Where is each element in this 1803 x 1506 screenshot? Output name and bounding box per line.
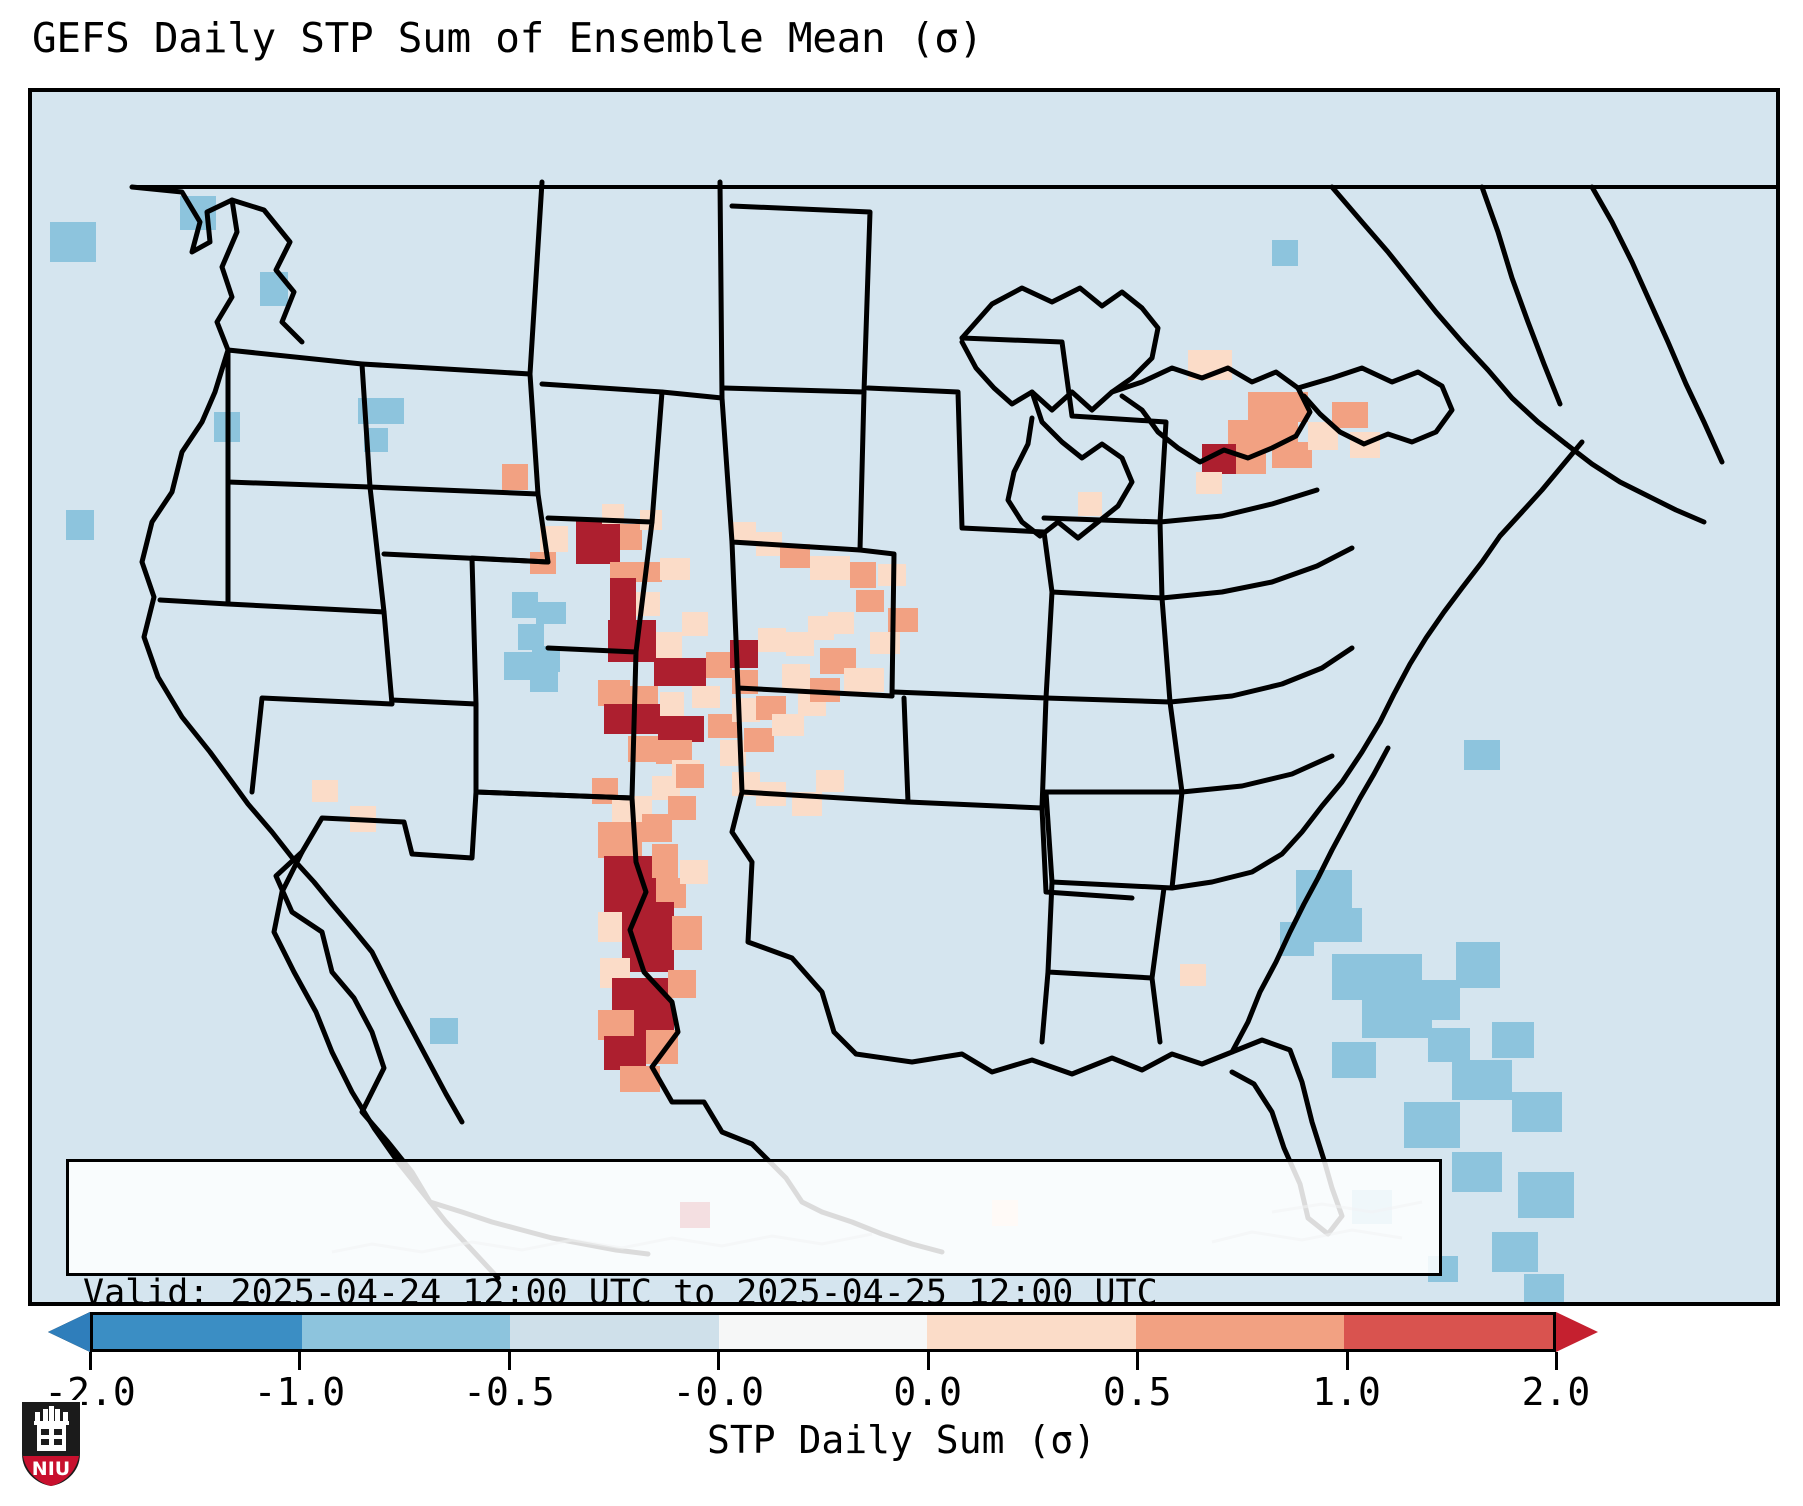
colorbar-tick: [89, 1352, 92, 1370]
heatmap-cell: [744, 728, 774, 752]
colorbar-tick: [298, 1352, 301, 1370]
heatmap-cell: [504, 652, 534, 680]
colorbar-segment-0: [93, 1315, 302, 1349]
colorbar-tick: [1555, 1352, 1558, 1370]
colorbar-tick-label: 0.5: [1103, 1370, 1172, 1414]
heatmap-cell: [652, 844, 678, 878]
heatmap-cell: [642, 814, 672, 842]
colorbar-ticks: [28, 1352, 1780, 1370]
heatmap-cell: [1464, 740, 1500, 770]
heatmap-cell: [430, 1018, 458, 1044]
colorbar-segment-4: [927, 1315, 1136, 1349]
heatmap-cell: [598, 912, 626, 942]
heatmap-cell: [1362, 998, 1432, 1038]
heatmap-cell: [1078, 492, 1102, 516]
colorbar-tick: [717, 1352, 720, 1370]
colorbar-axis-label: STP Daily Sum (σ): [0, 1418, 1803, 1462]
colorbar-tick: [927, 1352, 930, 1370]
heatmap-cell: [1332, 954, 1422, 1000]
heatmap-cell: [654, 658, 706, 686]
colorbar-tick-label: 1.0: [1312, 1370, 1381, 1414]
niu-logo-text: NIU: [32, 1458, 70, 1480]
heatmap-cell: [680, 860, 708, 884]
valid-time-line: Valid: 2025-04-24 12:00 UTC to 2025-04-2…: [83, 1269, 1425, 1306]
heatmap-cell: [1196, 472, 1222, 494]
heatmap-cell: [1314, 908, 1362, 942]
colorbar-extend-high-arrow: [1556, 1312, 1598, 1352]
heatmap-cell: [1248, 392, 1308, 422]
colorbar-segment-1: [302, 1315, 511, 1349]
map-panel: Valid: 2025-04-24 12:00 UTC to 2025-04-2…: [28, 88, 1780, 1306]
heatmap-cell: [536, 602, 566, 624]
heatmap-cell: [682, 612, 708, 636]
heatmap-cell: [668, 970, 696, 998]
heatmap-cell: [660, 692, 684, 718]
heatmap-cell: [772, 714, 804, 736]
heatmap-cell: [816, 770, 844, 792]
heatmap-cell: [598, 680, 630, 706]
heatmap-cell: [850, 562, 876, 588]
heatmap-cell: [1180, 964, 1206, 986]
heatmap-cell: [844, 668, 884, 692]
heatmap-cell: [1332, 1042, 1376, 1078]
heatmap-cell: [604, 1036, 646, 1070]
heatmap-cell: [610, 578, 636, 620]
colorbar-tick-label: -1.0: [254, 1370, 346, 1414]
heatmap-cell: [828, 612, 854, 634]
heatmap-cell: [758, 628, 786, 652]
heatmap-cell: [598, 1010, 634, 1040]
colorbar-segment-6: [1344, 1315, 1553, 1349]
heatmap-cell: [50, 222, 96, 262]
heatmap-cell: [1492, 1232, 1538, 1272]
heatmap-cell: [608, 620, 656, 662]
colorbar-segment-2: [510, 1315, 719, 1349]
colorbar-tick: [508, 1352, 511, 1370]
heatmap-cell: [856, 590, 884, 612]
heatmap-cell: [810, 556, 850, 580]
heatmap-cell: [1428, 1028, 1470, 1062]
colorbar-tick-label: 0.0: [893, 1370, 962, 1414]
page-title: GEFS Daily STP Sum of Ensemble Mean (σ): [32, 18, 983, 59]
map-canvas: [32, 92, 1776, 1302]
heatmap-cell: [1456, 942, 1500, 988]
heatmap-cell: [512, 592, 538, 618]
heatmap-cell: [576, 520, 620, 564]
colorbar-segment-5: [1136, 1315, 1345, 1349]
colorbar-tick: [1136, 1352, 1139, 1370]
heatmap-cell: [692, 686, 720, 708]
heatmap-cell: [312, 780, 338, 802]
colorbar-tick-label: -0.5: [463, 1370, 555, 1414]
heatmap-cell: [658, 716, 704, 742]
heatmap-cell: [668, 796, 696, 820]
heatmap-cell: [66, 510, 94, 540]
heatmap-cell: [706, 652, 732, 678]
heatmap-cell: [1452, 1060, 1512, 1100]
heatmap-cell: [1332, 402, 1368, 428]
heatmap-cell: [1524, 1274, 1564, 1302]
colorbar-tick-labels: -2.0-1.0-0.5-0.00.00.51.02.0: [28, 1370, 1780, 1416]
colorbar[interactable]: -2.0-1.0-0.5-0.00.00.51.02.0: [28, 1312, 1780, 1358]
colorbar-tick: [1346, 1352, 1349, 1370]
heatmap-cell: [660, 558, 690, 580]
heatmap-cell: [656, 632, 682, 660]
colorbar-tick-label: -0.0: [673, 1370, 765, 1414]
heatmap-cell: [1518, 1172, 1574, 1218]
heatmap-cell: [870, 632, 900, 654]
heatmap-cell: [782, 664, 810, 690]
colorbar-gradient[interactable]: [90, 1312, 1556, 1352]
heatmap-cell: [1404, 1102, 1460, 1148]
colorbar-extend-low-arrow: [48, 1312, 90, 1352]
heatmap-cell: [502, 464, 528, 490]
colorbar-tick-label: 2.0: [1522, 1370, 1591, 1414]
heatmap-cell: [676, 764, 704, 788]
niu-logo: NIU: [16, 1398, 86, 1490]
heatmap-cell: [1452, 1152, 1502, 1192]
colorbar-segment-3: [719, 1315, 928, 1349]
heatmap-cell: [620, 524, 642, 550]
heatmap-cell: [672, 916, 702, 950]
heatmap-cell: [1512, 1092, 1562, 1132]
heatmap-cell: [1492, 1022, 1534, 1058]
heatmap-cell: [530, 670, 558, 692]
heatmap-cell: [1272, 240, 1298, 266]
annotation-textbox: Valid: 2025-04-24 12:00 UTC to 2025-04-2…: [66, 1159, 1442, 1276]
